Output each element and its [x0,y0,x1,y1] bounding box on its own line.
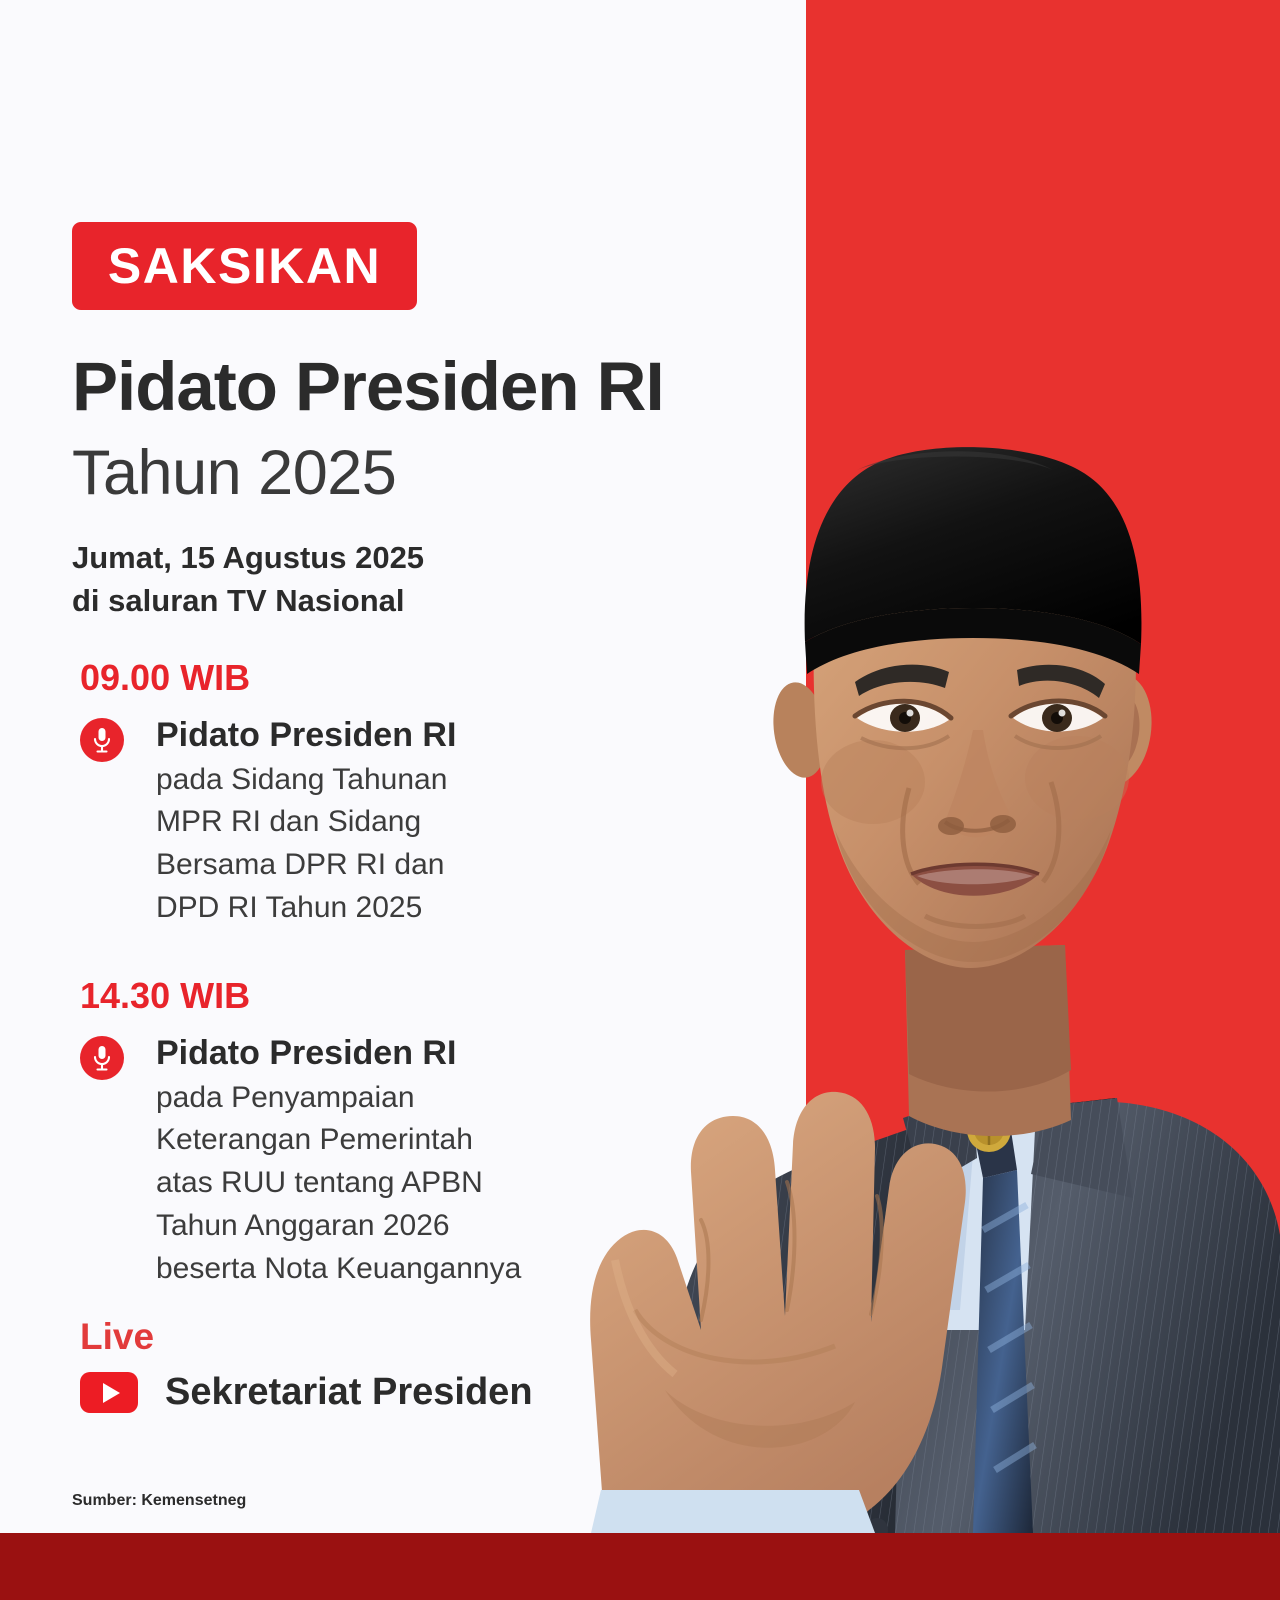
schedule-2-line-2: Keterangan Pemerintah [156,1119,521,1162]
schedule-1-line-2: MPR RI dan Sidang [156,801,456,844]
saksikan-badge: SAKSIKAN [72,222,417,310]
badge-label: SAKSIKAN [108,237,381,295]
live-channel-name: Sekretariat Presiden [165,1371,533,1414]
microphone-icon [80,1036,124,1080]
event-dateline: Jumat, 15 Agustus 2025 di saluran TV Nas… [72,537,424,623]
schedule-body-1: pada Sidang Tahunan MPR RI dan Sidang Be… [156,759,456,931]
schedule-1-line-3: Bersama DPR RI dan [156,844,456,887]
schedule-time-1: 09.00 WIB [80,660,456,696]
schedule-2-line-4: Tahun Anggaran 2026 [156,1205,521,1248]
page-subtitle: Tahun 2025 [72,442,396,505]
play-triangle-icon [103,1383,120,1403]
live-label: Live [80,1318,533,1355]
schedule-body-2: pada Penyampaian Keterangan Pemerintah a… [156,1077,521,1291]
schedule-1-line-1: pada Sidang Tahunan [156,759,456,802]
schedule-2-line-1: pada Penyampaian [156,1077,521,1120]
date-line-2: di saluran TV Nasional [72,580,424,623]
schedule-2-line-5: beserta Nota Keuangannya [156,1248,521,1291]
poster-canvas: SAKSIKAN Pidato Presiden RI Tahun 2025 J… [0,0,1280,1600]
bottom-accent-bar [0,1533,1280,1600]
page-title: Pidato Presiden RI [72,352,664,421]
schedule-time-2: 14.30 WIB [80,978,521,1014]
microphone-icon [80,718,124,762]
content-column: SAKSIKAN Pidato Presiden RI Tahun 2025 J… [72,0,772,1533]
schedule-2-line-3: atas RUU tentang APBN [156,1162,521,1205]
schedule-item-1: 09.00 WIB Pidato Presiden RI pada Sidang… [80,660,456,930]
schedule-1-line-4: DPD RI Tahun 2025 [156,887,456,930]
youtube-icon[interactable] [80,1372,138,1413]
schedule-heading-1: Pidato Presiden RI [156,714,456,757]
live-section: Live Sekretariat Presiden [80,1318,533,1414]
schedule-heading-2: Pidato Presiden RI [156,1032,521,1075]
source-credit: Sumber: Kemensetneg [72,1492,246,1510]
schedule-item-2: 14.30 WIB Pidato Presiden RI pada Penyam… [80,978,521,1291]
date-line-1: Jumat, 15 Agustus 2025 [72,537,424,580]
